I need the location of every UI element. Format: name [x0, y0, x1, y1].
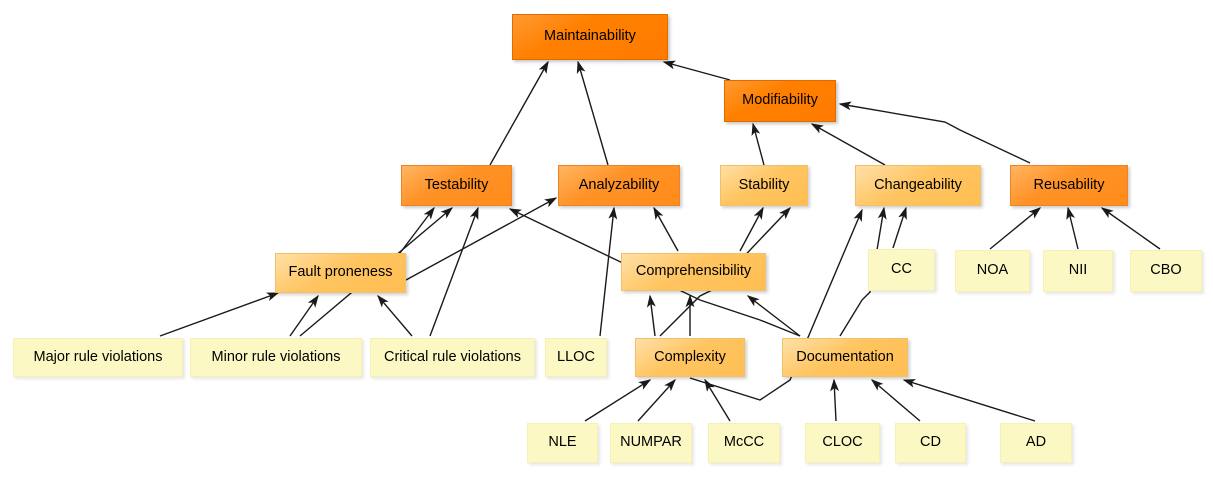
node-label: Changeability — [874, 178, 962, 194]
edge-cd-to-documentation — [872, 380, 920, 421]
edge-noa-to-reusability — [990, 208, 1040, 249]
edge-complexity-to-comprehensibility — [650, 296, 655, 336]
node-label: Complexity — [654, 350, 726, 366]
node-label: Testability — [425, 178, 489, 194]
edge-modifiability-to-maintainability — [664, 62, 730, 80]
node-changeability[interactable]: Changeability — [855, 165, 981, 206]
edge-nle-to-complexity — [585, 380, 650, 421]
edge-changeability-to-modifiability — [812, 124, 885, 165]
edge-comprehensibility-to-analyzability — [654, 208, 678, 251]
node-label: NUMPAR — [620, 435, 682, 451]
node-modifiability[interactable]: Modifiability — [724, 80, 836, 122]
node-complexity[interactable]: Complexity — [635, 338, 745, 377]
node-nle[interactable]: NLE — [527, 423, 598, 463]
edge-lloc-to-analyzability — [600, 208, 614, 336]
node-cc[interactable]: CC — [868, 249, 935, 291]
node-documentation[interactable]: Documentation — [782, 338, 908, 377]
node-lloc[interactable]: LLOC — [545, 338, 607, 377]
node-label: Critical rule violations — [384, 350, 521, 366]
node-label: Maintainability — [544, 29, 636, 45]
edge-stability-to-modifiability — [753, 124, 764, 165]
node-label: Comprehensibility — [636, 264, 751, 280]
edge-critical-rule-violations-to-fault-proneness — [378, 296, 412, 336]
edge-analyzability-to-maintainability — [578, 62, 608, 165]
node-stability[interactable]: Stability — [720, 165, 808, 206]
node-label: CD — [920, 435, 941, 451]
node-fault-proneness[interactable]: Fault proneness — [275, 253, 406, 293]
edge-numpar-to-complexity — [638, 380, 675, 421]
edge-fault-proneness-to-analyzability — [406, 198, 556, 280]
node-maintainability[interactable]: Maintainability — [512, 14, 668, 60]
edge-testability-to-maintainability — [490, 62, 548, 165]
node-label: NOA — [977, 263, 1008, 279]
node-major-rule-violations[interactable]: Major rule violations — [13, 338, 183, 377]
node-label: Documentation — [796, 350, 894, 366]
edge-layer — [0, 0, 1213, 481]
diagram-canvas: MaintainabilityModifiabilityTestabilityA… — [0, 0, 1213, 481]
edge-mccc-to-complexity — [705, 380, 730, 421]
node-cbo[interactable]: CBO — [1130, 250, 1202, 292]
node-mccc[interactable]: McCC — [708, 423, 780, 463]
edge-fault-proneness-to-testability — [400, 208, 434, 253]
node-cloc[interactable]: CLOC — [805, 423, 880, 463]
edge-comprehensibility-to-stability — [740, 208, 763, 251]
edge-reusability-to-modifiability — [840, 104, 1030, 163]
edge-cbo-to-reusability — [1102, 208, 1160, 249]
node-analyzability[interactable]: Analyzability — [558, 165, 680, 206]
node-label: Modifiability — [742, 93, 818, 109]
node-minor-rule-violations[interactable]: Minor rule violations — [190, 338, 362, 377]
node-label: McCC — [724, 435, 764, 451]
node-label: Analyzability — [579, 178, 660, 194]
node-nii[interactable]: NII — [1043, 250, 1113, 292]
node-label: CLOC — [822, 435, 862, 451]
edge-ad-to-documentation — [904, 380, 1035, 421]
edge-minor-rule-violations-to-fault-proneness — [290, 296, 318, 336]
node-label: NII — [1069, 263, 1088, 279]
node-ad[interactable]: AD — [1000, 423, 1072, 463]
node-label: AD — [1026, 435, 1046, 451]
node-label: NLE — [548, 435, 576, 451]
node-label: CBO — [1150, 263, 1181, 279]
edge-documentation-to-comprehensibility — [748, 296, 800, 336]
edge-cc-to-changeability — [893, 208, 906, 248]
node-reusability[interactable]: Reusability — [1010, 165, 1128, 206]
node-label: Reusability — [1034, 178, 1105, 194]
edge-nii-to-reusability — [1068, 208, 1078, 249]
node-critical-rule-violations[interactable]: Critical rule violations — [370, 338, 535, 377]
node-noa[interactable]: NOA — [955, 250, 1030, 292]
node-label: Fault proneness — [289, 265, 393, 281]
node-comprehensibility[interactable]: Comprehensibility — [621, 253, 766, 291]
node-label: LLOC — [557, 350, 595, 366]
node-label: CC — [891, 262, 912, 278]
node-label: Stability — [739, 178, 790, 194]
node-label: Minor rule violations — [212, 350, 341, 366]
edge-critical-rule-violations-to-testability — [430, 208, 478, 336]
node-numpar[interactable]: NUMPAR — [610, 423, 692, 463]
edge-cloc-to-documentation — [834, 380, 836, 421]
node-cd[interactable]: CD — [895, 423, 966, 463]
edge-major-rule-violations-to-fault-proneness — [160, 293, 278, 336]
node-testability[interactable]: Testability — [401, 165, 512, 206]
node-label: Major rule violations — [34, 350, 163, 366]
